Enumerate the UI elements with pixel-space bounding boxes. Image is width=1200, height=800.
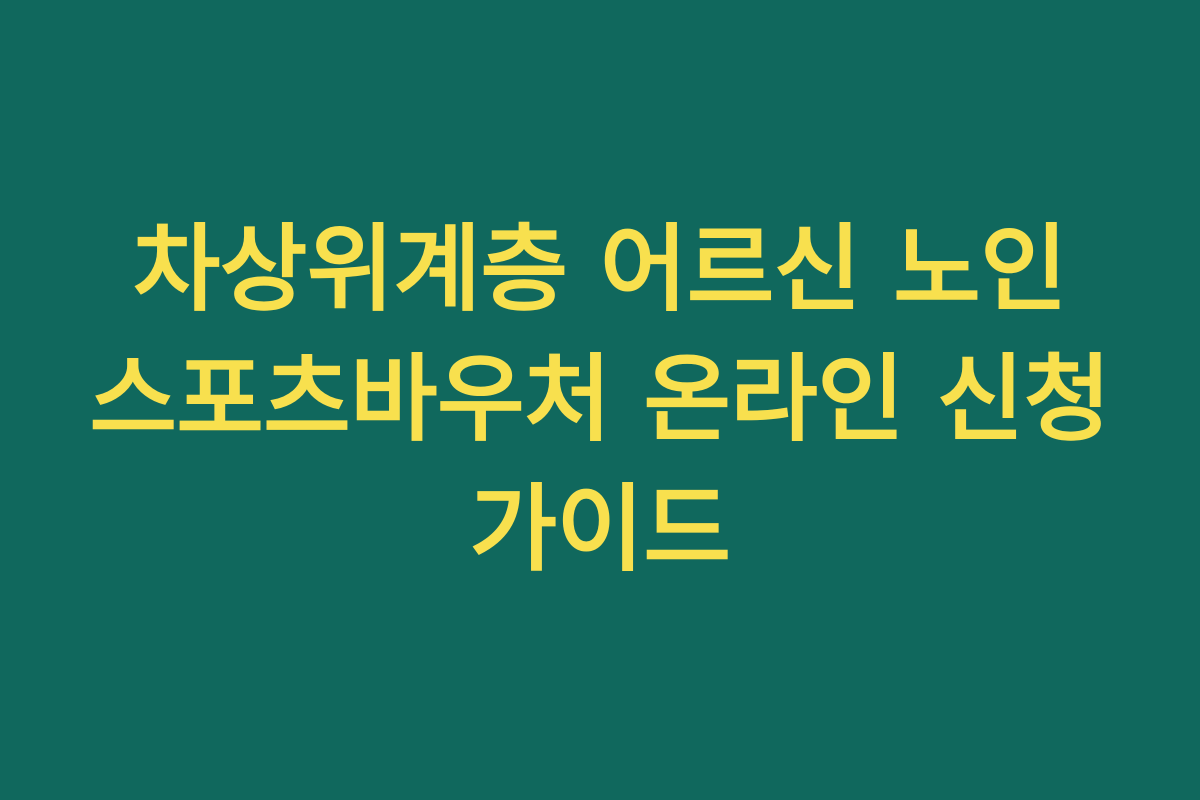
page-title: 차상위계층 어르신 노인 스포츠바우처 온라인 신청 가이드 [85,205,1115,595]
thumbnail-card: 차상위계층 어르신 노인 스포츠바우처 온라인 신청 가이드 [0,0,1200,800]
title-block: 차상위계층 어르신 노인 스포츠바우처 온라인 신청 가이드 [77,205,1123,595]
